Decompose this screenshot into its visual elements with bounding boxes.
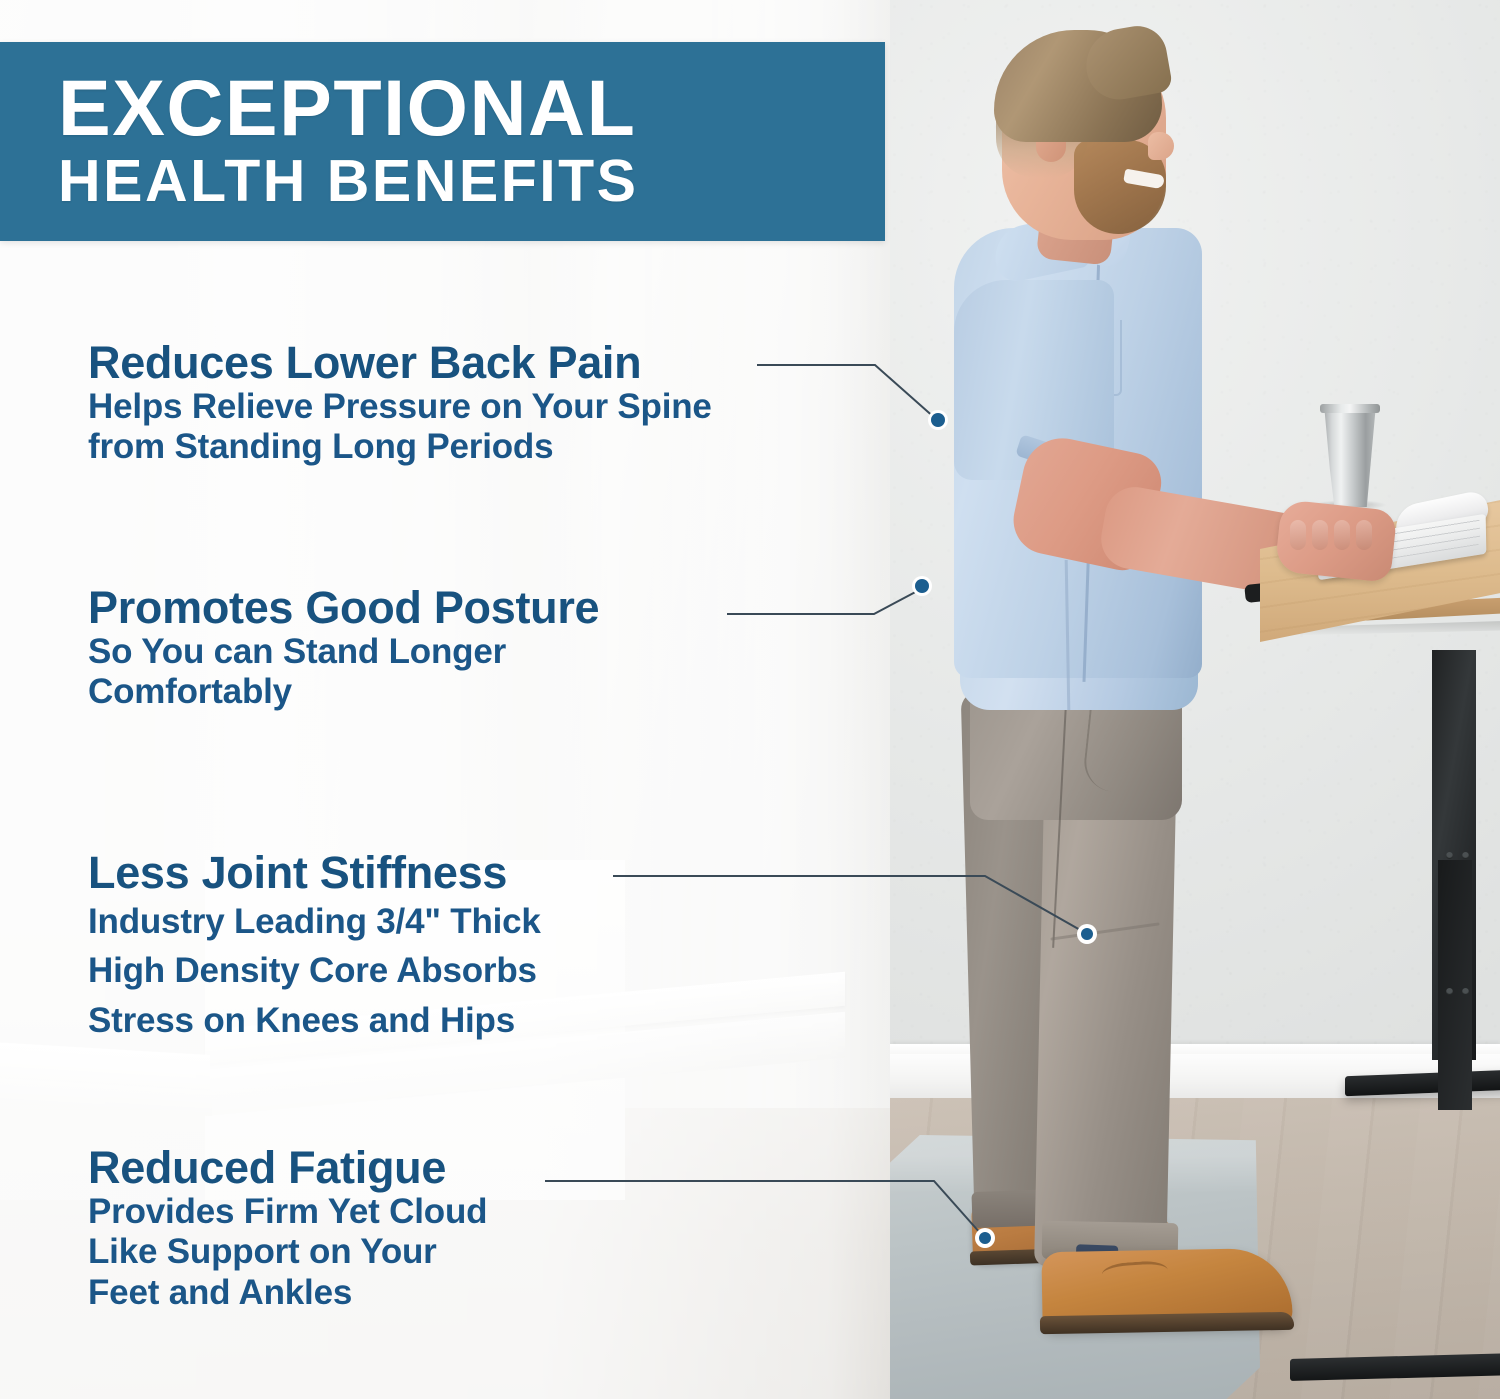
banner-title-line-2: HEALTH BENEFITS <box>58 152 885 211</box>
benefit-block-reduces-lower-back-pain: Reduces Lower Back Pain Helps Relieve Pr… <box>88 340 712 468</box>
benefit-title: Less Joint Stiffness <box>88 850 541 897</box>
infographic-canvas: EXCEPTIONAL HEALTH BENEFITS Reduces Lowe… <box>0 0 1500 1399</box>
header-banner: EXCEPTIONAL HEALTH BENEFITS <box>0 42 885 241</box>
benefit-subline: High Density Core Absorbs <box>88 946 541 996</box>
knuckle <box>1290 520 1306 550</box>
benefit-subline: Industry Leading 3/4" Thick <box>88 897 541 947</box>
knuckle <box>1356 520 1372 550</box>
benefit-subline: from Standing Long Periods <box>88 427 712 468</box>
knuckle <box>1312 520 1328 550</box>
benefit-block-less-joint-stiffness: Less Joint Stiffness Industry Leading 3/… <box>88 850 541 1046</box>
benefit-subline: So You can Stand Longer <box>88 632 599 673</box>
benefit-title: Reduced Fatigue <box>88 1145 487 1192</box>
banner-title-line-1: EXCEPTIONAL <box>58 70 885 145</box>
benefit-subline: Provides Firm Yet Cloud <box>88 1192 487 1233</box>
product-photo <box>890 0 1500 1399</box>
pants-pocket <box>1081 697 1156 795</box>
benefit-subline: Comfortably <box>88 672 599 713</box>
benefit-title: Reduces Lower Back Pain <box>88 340 712 387</box>
desk-leg-bolt <box>1462 988 1469 995</box>
desk-leg-bolt <box>1446 852 1453 859</box>
desk-leg-lower <box>1438 860 1472 1110</box>
benefit-subline: Helps Relieve Pressure on Your Spine <box>88 387 712 428</box>
benefit-title: Promotes Good Posture <box>88 585 599 632</box>
benefit-subline: Stress on Knees and Hips <box>88 996 541 1046</box>
benefit-subline: Like Support on Your <box>88 1232 487 1273</box>
desk-leg-bolt <box>1446 988 1453 995</box>
benefit-block-promotes-good-posture: Promotes Good Posture So You can Stand L… <box>88 585 599 713</box>
tumbler-rim <box>1320 404 1380 413</box>
desk-leg-bolt <box>1462 852 1469 859</box>
benefit-subline: Feet and Ankles <box>88 1273 487 1314</box>
benefit-block-reduced-fatigue: Reduced Fatigue Provides Firm Yet Cloud … <box>88 1145 487 1314</box>
knuckle <box>1334 520 1350 550</box>
